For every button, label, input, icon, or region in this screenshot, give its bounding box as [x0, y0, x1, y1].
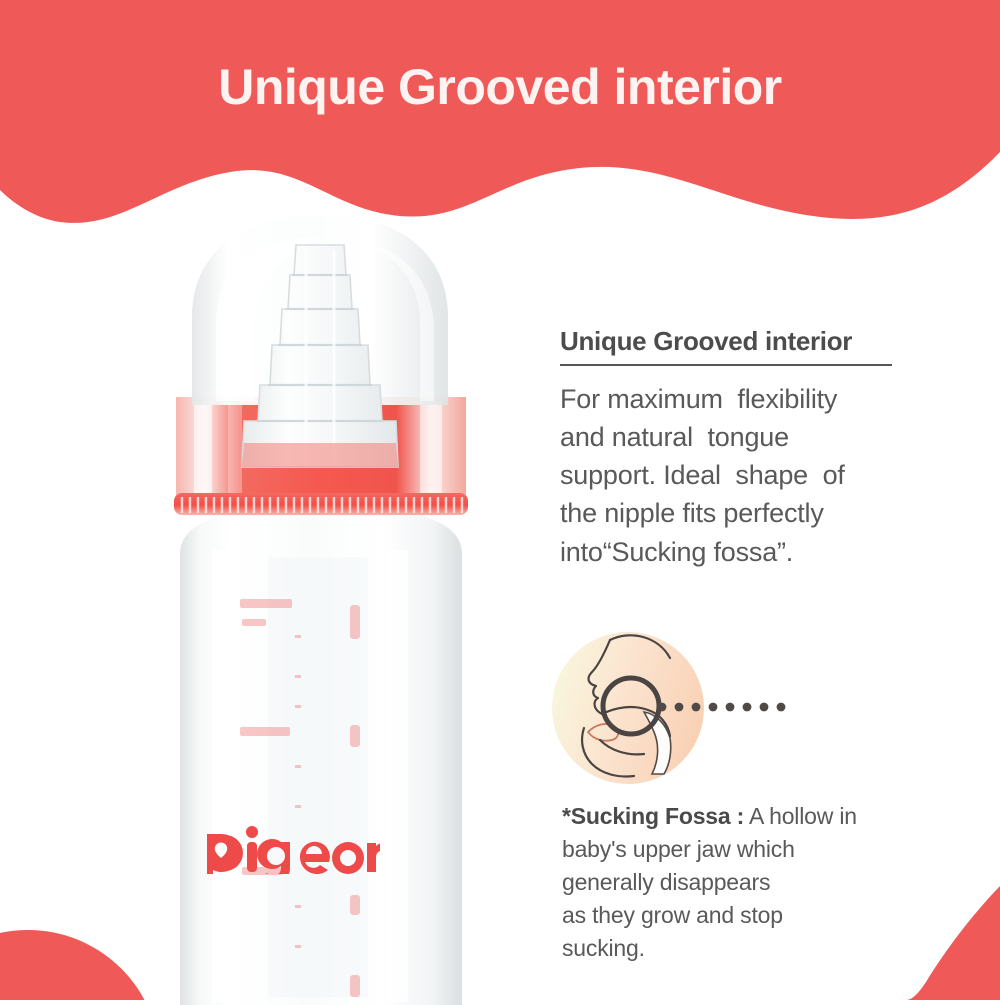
- feature-description: For maximum flexibility and natural tong…: [560, 380, 960, 572]
- footnote-line-3: generally disappears: [562, 866, 962, 899]
- feature-line-4: the nipple fits perfectly: [560, 494, 960, 532]
- footnote-line-1: *Sucking Fossa : A hollow in: [562, 800, 962, 833]
- footnote-label: *Sucking Fossa :: [562, 803, 744, 829]
- pigeon-logo: [205, 822, 380, 874]
- feature-line-2: and natural tongue: [560, 418, 960, 456]
- footnote-line-4: as they grow and stop: [562, 899, 962, 932]
- feature-line-5: into“Sucking fossa”.: [560, 533, 960, 571]
- collar-ridged-rim: [174, 493, 468, 515]
- dotted-leader-line: [658, 703, 786, 712]
- product-bottle-image: [120, 205, 520, 1005]
- footnote-line-5: sucking.: [562, 932, 962, 965]
- feature-heading: Unique Grooved interior: [560, 325, 960, 358]
- footnote-block: *Sucking Fossa : A hollow in baby's uppe…: [562, 800, 962, 964]
- sucking-fossa-diagram: [548, 628, 808, 788]
- footnote-line-2: baby's upper jaw which: [562, 833, 962, 866]
- heading-divider: [560, 364, 892, 366]
- feature-line-3: support. Ideal shape of: [560, 456, 960, 494]
- page-title: Unique Grooved interior: [0, 58, 1000, 116]
- feature-info-panel: Unique Grooved interior For maximum flex…: [560, 325, 960, 571]
- footnote-line-1-rest: A hollow in: [744, 803, 857, 829]
- feature-line-1: For maximum flexibility: [560, 380, 960, 418]
